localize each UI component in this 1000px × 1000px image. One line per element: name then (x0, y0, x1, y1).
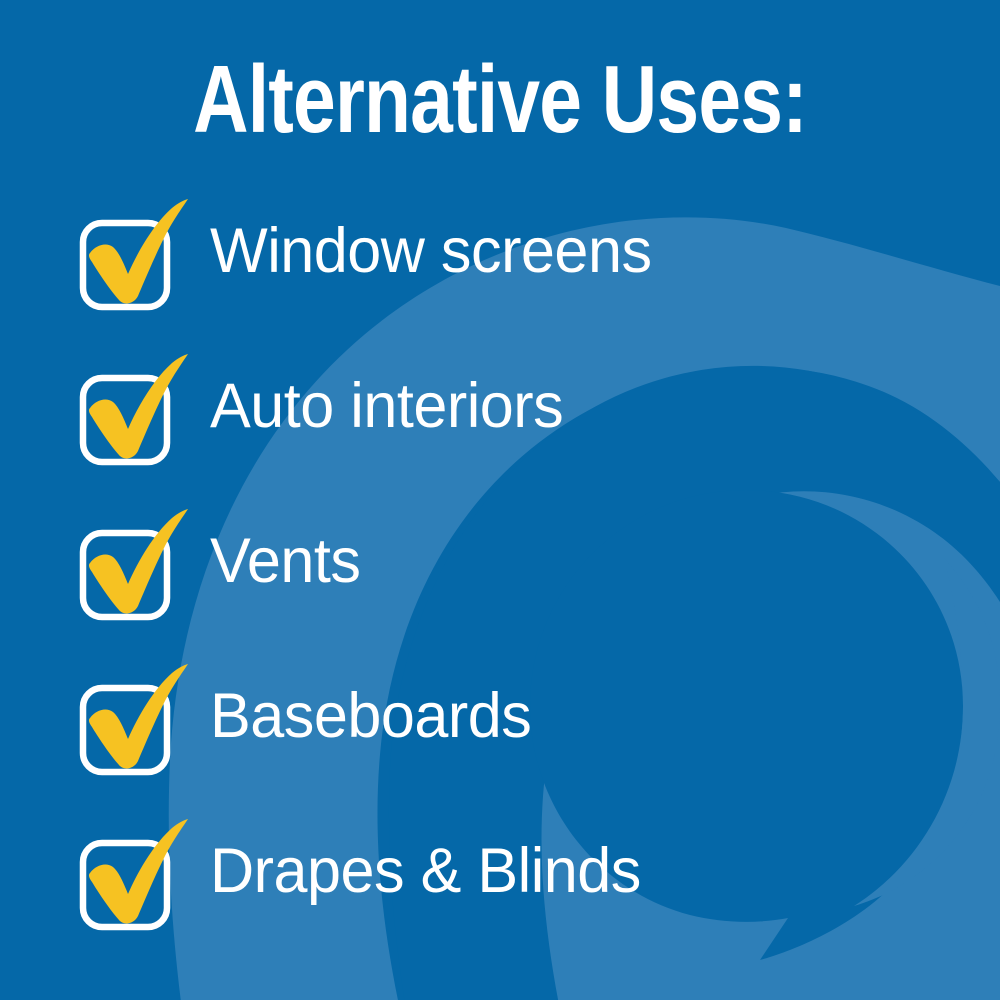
list-item[interactable]: Vents (0, 506, 1000, 661)
list-item[interactable]: Baseboards (0, 661, 1000, 816)
checkbox-checked-icon[interactable] (72, 506, 192, 624)
checkbox-checked-icon[interactable] (72, 351, 192, 469)
list-item[interactable]: Window screens (0, 196, 1000, 351)
list-item-label: Drapes & Blinds (210, 840, 641, 903)
list-item-label: Auto interiors (210, 375, 563, 438)
alternative-uses-list: Window screens Auto interiors (0, 196, 1000, 971)
list-item-label: Window screens (210, 220, 652, 283)
list-item[interactable]: Auto interiors (0, 351, 1000, 506)
page-title: Alternative Uses: (100, 52, 900, 148)
alternative-uses-poster: Alternative Uses: Window screens (0, 0, 1000, 1000)
checkbox-checked-icon[interactable] (72, 196, 192, 314)
checkbox-checked-icon[interactable] (72, 661, 192, 779)
list-item-label: Baseboards (210, 685, 531, 748)
list-item-label: Vents (210, 530, 360, 593)
list-item[interactable]: Drapes & Blinds (0, 816, 1000, 971)
checkbox-checked-icon[interactable] (72, 816, 192, 934)
